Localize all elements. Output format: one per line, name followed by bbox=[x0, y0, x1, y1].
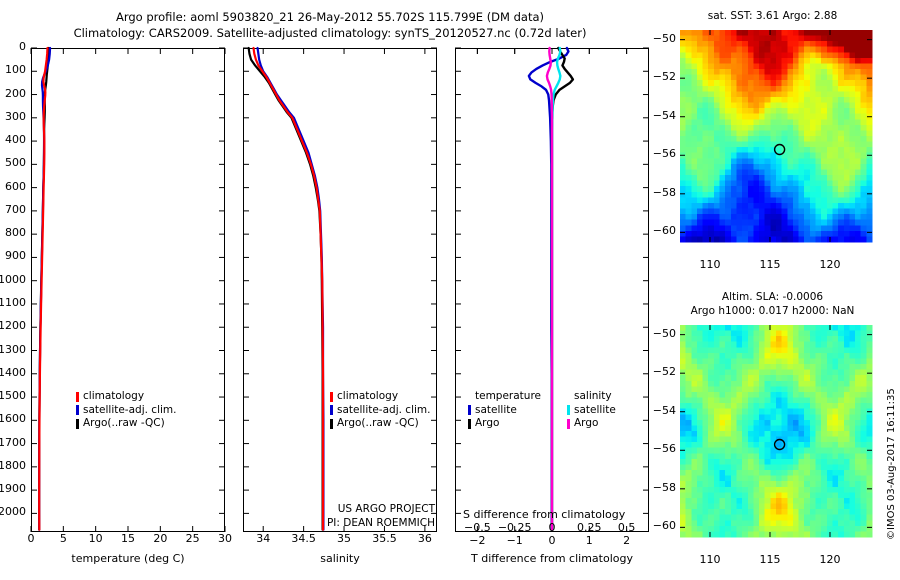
legend-label: satellite bbox=[475, 404, 517, 418]
salinity-axis-label: salinity bbox=[243, 552, 437, 565]
temperature-depth-ticks: 0100200300400500600700800900100011001200… bbox=[0, 48, 31, 532]
legend-item: Argo(..raw -QC) bbox=[76, 417, 176, 431]
axis-tick-label: 20 bbox=[153, 532, 167, 545]
latitude-tick-label: −52 bbox=[653, 365, 676, 378]
sla-map-title-line1: Altim. SLA: -0.0006 bbox=[665, 291, 880, 303]
depth-tick-label: 0 bbox=[19, 40, 26, 53]
depth-tick-label: 1800 bbox=[0, 459, 26, 472]
salinity-legend: climatologysatellite-adj. clim.Argo(..ra… bbox=[330, 390, 430, 431]
difference-temp-xticks: −2−1012 bbox=[455, 534, 649, 552]
legend-label: climatology bbox=[83, 390, 144, 404]
legend-color-swatch bbox=[567, 419, 570, 429]
axis-tick-label: 34.5 bbox=[291, 532, 316, 545]
longitude-tick-label: 115 bbox=[760, 258, 781, 271]
axis-tick-label: 0 bbox=[549, 534, 556, 547]
legend-item: satellite bbox=[567, 404, 616, 418]
pi-credit: PI: DEAN ROEMMICH bbox=[237, 517, 435, 529]
legend-color-swatch bbox=[330, 405, 333, 415]
temperature-axis-label: temperature (deg C) bbox=[31, 552, 225, 565]
legend-color-swatch bbox=[330, 392, 333, 402]
legend-item: climatology bbox=[330, 390, 430, 404]
depth-tick-label: 400 bbox=[5, 133, 26, 146]
sla-map-image bbox=[680, 325, 872, 537]
sla-map-yticks: −50−52−54−56−58−60 bbox=[648, 325, 680, 537]
sst-map-xticks: 110115120 bbox=[680, 258, 872, 276]
axis-tick-label: −2 bbox=[469, 534, 485, 547]
axis-tick-label: 0.5 bbox=[618, 521, 636, 534]
latitude-tick-label: −56 bbox=[653, 442, 676, 455]
latitude-tick-label: −52 bbox=[653, 70, 676, 83]
depth-tick-label: 300 bbox=[5, 110, 26, 123]
depth-tick-label: 600 bbox=[5, 180, 26, 193]
legend-group: salinitysatelliteArgo bbox=[567, 390, 616, 431]
depth-tick-label: 1500 bbox=[0, 389, 26, 402]
latitude-tick-label: −54 bbox=[653, 404, 676, 417]
depth-tick-label: 100 bbox=[5, 63, 26, 76]
legend-color-swatch bbox=[468, 419, 471, 429]
salinity-xticks: 3434.53535.536 bbox=[243, 532, 437, 552]
legend-group: temperaturesatelliteArgo bbox=[468, 390, 541, 431]
latitude-tick-label: −50 bbox=[653, 32, 676, 45]
depth-tick-label: 1300 bbox=[0, 343, 26, 356]
sst-map-yticks: −50−52−54−56−58−60 bbox=[648, 30, 680, 242]
temperature-difference-axis-label: T difference from climatology bbox=[455, 552, 649, 565]
depth-tick-label: 1600 bbox=[0, 412, 26, 425]
salinity-plot-area bbox=[243, 48, 437, 532]
legend-label: Argo(..raw -QC) bbox=[337, 417, 419, 431]
axis-tick-label: 0.25 bbox=[577, 521, 602, 534]
legend-color-swatch bbox=[330, 419, 333, 429]
depth-tick-label: 1400 bbox=[0, 366, 26, 379]
legend-label: satellite-adj. clim. bbox=[83, 404, 176, 418]
temperature-legend: climatologysatellite-adj. clim.Argo(..ra… bbox=[76, 390, 176, 431]
latitude-tick-label: −56 bbox=[653, 147, 676, 160]
legend-item: climatology bbox=[76, 390, 176, 404]
legend-item: satellite bbox=[468, 404, 541, 418]
depth-tick-label: 1900 bbox=[0, 482, 26, 495]
latitude-tick-label: −58 bbox=[653, 186, 676, 199]
depth-tick-label: 1100 bbox=[0, 296, 26, 309]
temperature-xticks: 051015202530 bbox=[31, 532, 225, 552]
salinity-difference-axis-label: S difference from climatology bbox=[455, 508, 649, 521]
depth-tick-label: 800 bbox=[5, 226, 26, 239]
legend-color-swatch bbox=[76, 392, 79, 402]
legend-item: Argo(..raw -QC) bbox=[330, 417, 430, 431]
axis-tick-label: 2 bbox=[623, 534, 630, 547]
difference-sal-xticks: −0.5−0.2500.250.5 bbox=[455, 521, 649, 535]
axis-tick-label: 36 bbox=[418, 532, 432, 545]
longitude-tick-label: 120 bbox=[820, 553, 841, 566]
imos-timestamp-credit: ©IMOS 03-Aug-2017 16:11:35 bbox=[886, 388, 897, 540]
axis-tick-label: −1 bbox=[507, 534, 523, 547]
longitude-tick-label: 110 bbox=[700, 553, 721, 566]
axis-tick-label: 30 bbox=[218, 532, 232, 545]
latitude-tick-label: −60 bbox=[653, 519, 676, 532]
legend-item: Argo bbox=[468, 417, 541, 431]
legend-label: Argo bbox=[574, 417, 598, 431]
axis-tick-label: 35.5 bbox=[372, 532, 397, 545]
legend-color-swatch bbox=[468, 405, 471, 415]
legend-label: Argo(..raw -QC) bbox=[83, 417, 165, 431]
legend-item: satellite-adj. clim. bbox=[76, 404, 176, 418]
legend-group-title: salinity bbox=[567, 390, 616, 404]
legend-item: Argo bbox=[567, 417, 616, 431]
depth-tick-label: 900 bbox=[5, 249, 26, 262]
axis-tick-label: 5 bbox=[60, 532, 67, 545]
axis-tick-label: 0 bbox=[549, 521, 556, 534]
depth-tick-label: 200 bbox=[5, 87, 26, 100]
depth-tick-label: 1000 bbox=[0, 273, 26, 286]
sla-map-xticks: 110115120 bbox=[680, 553, 872, 571]
legend-label: climatology bbox=[337, 390, 398, 404]
axis-tick-label: −0.25 bbox=[498, 521, 532, 534]
sla-map-title-line2: Argo h1000: 0.017 h2000: NaN bbox=[660, 305, 885, 317]
depth-tick-label: 700 bbox=[5, 203, 26, 216]
axis-tick-label: 10 bbox=[89, 532, 103, 545]
legend-group-title: temperature bbox=[468, 390, 541, 404]
figure-title-line2: Climatology: CARS2009. Satellite-adjuste… bbox=[0, 26, 660, 40]
difference-legend: temperaturesatelliteArgosalinitysatellit… bbox=[468, 390, 616, 431]
longitude-tick-label: 110 bbox=[700, 258, 721, 271]
us-argo-project-credit: US ARGO PROJECT bbox=[237, 503, 435, 515]
legend-label: Argo bbox=[475, 417, 499, 431]
sst-map-image bbox=[680, 30, 872, 242]
temperature-plot-area bbox=[31, 48, 225, 532]
longitude-tick-label: 115 bbox=[760, 553, 781, 566]
longitude-tick-label: 120 bbox=[820, 258, 841, 271]
axis-tick-label: 35 bbox=[337, 532, 351, 545]
depth-tick-label: 500 bbox=[5, 156, 26, 169]
latitude-tick-label: −58 bbox=[653, 481, 676, 494]
latitude-tick-label: −50 bbox=[653, 327, 676, 340]
legend-color-swatch bbox=[76, 405, 79, 415]
legend-label: satellite bbox=[574, 404, 616, 418]
figure-title-line1: Argo profile: aoml 5903820_21 26-May-201… bbox=[0, 10, 660, 24]
axis-tick-label: 0 bbox=[28, 532, 35, 545]
depth-tick-label: 1200 bbox=[0, 319, 26, 332]
axis-tick-label: −0.5 bbox=[464, 521, 491, 534]
latitude-tick-label: −60 bbox=[653, 224, 676, 237]
depth-tick-label: 1700 bbox=[0, 436, 26, 449]
legend-color-swatch bbox=[567, 405, 570, 415]
legend-color-swatch bbox=[76, 419, 79, 429]
latitude-tick-label: −54 bbox=[653, 109, 676, 122]
legend-label: satellite-adj. clim. bbox=[337, 404, 430, 418]
axis-tick-label: 25 bbox=[186, 532, 200, 545]
axis-tick-label: 1 bbox=[586, 534, 593, 547]
sst-map-title: sat. SST: 3.61 Argo: 2.88 bbox=[665, 10, 880, 22]
axis-tick-label: 15 bbox=[121, 532, 135, 545]
legend-item: satellite-adj. clim. bbox=[330, 404, 430, 418]
axis-tick-label: 34 bbox=[256, 532, 270, 545]
difference-plot-area bbox=[455, 48, 649, 532]
depth-tick-label: 2000 bbox=[0, 505, 26, 518]
